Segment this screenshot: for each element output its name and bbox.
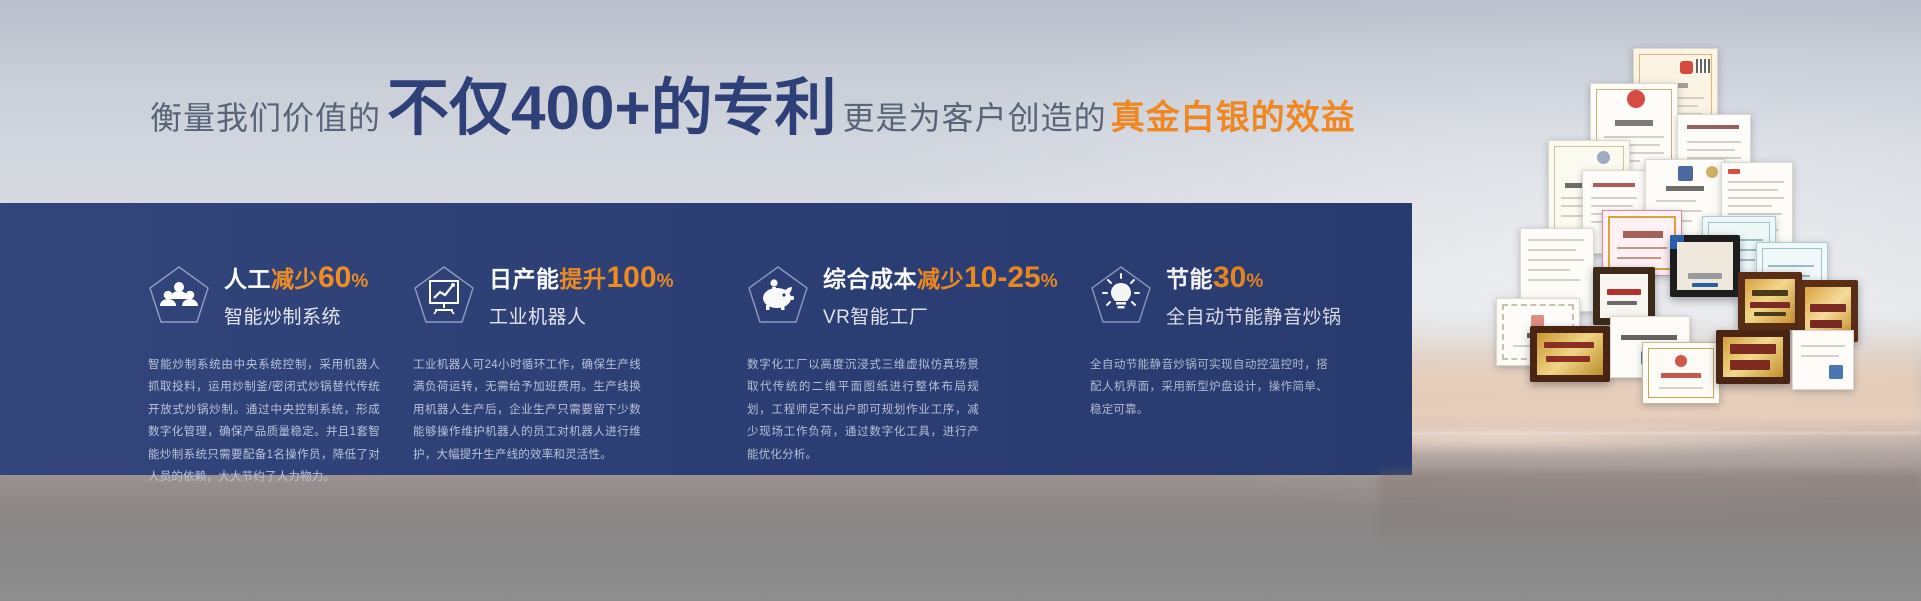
feature-card-header: 人工减少60% 智能炒制系统 (148, 263, 355, 329)
feature-card-subtitle: VR智能工厂 (823, 302, 1058, 329)
people-group-icon (148, 265, 210, 325)
feature-card: 综合成本减少10-25% VR智能工厂 数字化工厂以高度沉浸式三维虚拟仿真场景取… (695, 203, 1040, 475)
feature-card-body: 智能炒制系统由中央系统控制，采用机器人抓取投料，运用炒制釜/密闭式炒锅替代传统开… (148, 354, 380, 489)
certificate-item (1792, 330, 1854, 390)
feature-card: 人工减少60% 智能炒制系统 智能炒制系统由中央系统控制，采用机器人抓取投料，运… (0, 203, 355, 475)
feature-title-label: 节能 (1166, 266, 1213, 292)
certificate-item (1642, 342, 1720, 404)
feature-card-title: 日产能提升100% (489, 263, 673, 293)
feature-card-body: 全自动节能静音炒锅可实现自动控温控时，搭配人机界面，采用新型炉盘设计，操作简单、… (1090, 354, 1328, 421)
feature-card-body: 工业机器人可24小时循环工作，确保生产线满负荷运转，无需给予加班费用。生产线换用… (413, 354, 641, 466)
headline-middle: 更是为客户创造的 (843, 93, 1107, 139)
feature-card-title: 人工减少60% (224, 263, 368, 293)
award-plaque (1738, 272, 1802, 330)
feature-card-title: 节能30% (1166, 263, 1342, 293)
feature-card-text: 综合成本减少10-25% VR智能工厂 (823, 263, 1058, 329)
feature-card-subtitle: 工业机器人 (489, 302, 673, 329)
feature-card-text: 日产能提升100% 工业机器人 (489, 263, 673, 329)
feature-title-number: 60 (318, 261, 351, 294)
feature-card-header: 节能30% 全自动节能静音炒锅 (1090, 263, 1412, 329)
piggy-bank-icon (747, 265, 809, 325)
wall-reflection (1380, 470, 1921, 550)
feature-title-label: 人工 (224, 266, 271, 292)
award-plaque (1530, 326, 1610, 382)
feature-title-number: 10-25 (964, 261, 1041, 294)
feature-title-unit: % (1246, 271, 1263, 292)
feature-card-title: 综合成本减少10-25% (823, 263, 1058, 293)
feature-card-subtitle: 全自动节能静音炒锅 (1166, 302, 1342, 329)
feature-title-number: 30 (1213, 261, 1246, 294)
feature-title-label: 日产能 (489, 266, 560, 292)
feature-card: 节能30% 全自动节能静音炒锅 全自动节能静音炒锅可实现自动控温控时，搭配人机界… (1040, 203, 1412, 475)
feature-title-accent: 减少 (917, 266, 964, 292)
headline-lead: 衡量我们价值的 (150, 93, 381, 139)
feature-card-list: 人工减少60% 智能炒制系统 智能炒制系统由中央系统控制，采用机器人抓取投料，运… (0, 203, 1412, 475)
feature-card-header: 综合成本减少10-25% VR智能工厂 (747, 263, 1040, 329)
feature-card: 日产能提升100% 工业机器人 工业机器人可24小时循环工作，确保生产线满负荷运… (355, 203, 695, 475)
chart-board-icon (413, 265, 475, 325)
feature-title-label: 综合成本 (823, 266, 917, 292)
feature-title-accent: 减少 (271, 266, 318, 292)
headline: 衡量我们价值的 不仅400+的专利 更是为客户创造的 真金白银的效益 (150, 78, 1356, 140)
award-plaque (1716, 330, 1790, 384)
feature-title-accent: 提升 (560, 266, 607, 292)
certificate-wall (1380, 30, 1921, 510)
feature-title-unit: % (657, 271, 674, 292)
feature-card-header: 日产能提升100% 工业机器人 (413, 263, 695, 329)
headline-accent: 真金白银的效益 (1111, 90, 1356, 139)
feature-title-number: 100 (607, 261, 657, 294)
feature-card-body: 数字化工厂以高度沉浸式三维虚拟仿真场景取代传统的二维平面图纸进行整体布局规划，工… (747, 354, 979, 466)
feature-card-text: 人工减少60% 智能炒制系统 (224, 263, 368, 329)
promo-banner: 衡量我们价值的 不仅400+的专利 更是为客户创造的 真金白银的效益 (0, 0, 1921, 601)
feature-card-subtitle: 智能炒制系统 (224, 302, 368, 329)
lightbulb-icon (1090, 265, 1152, 325)
award-plaque (1670, 235, 1740, 297)
headline-emphasis: 不仅400+的专利 (387, 78, 837, 140)
feature-card-text: 节能30% 全自动节能静音炒锅 (1166, 263, 1342, 329)
